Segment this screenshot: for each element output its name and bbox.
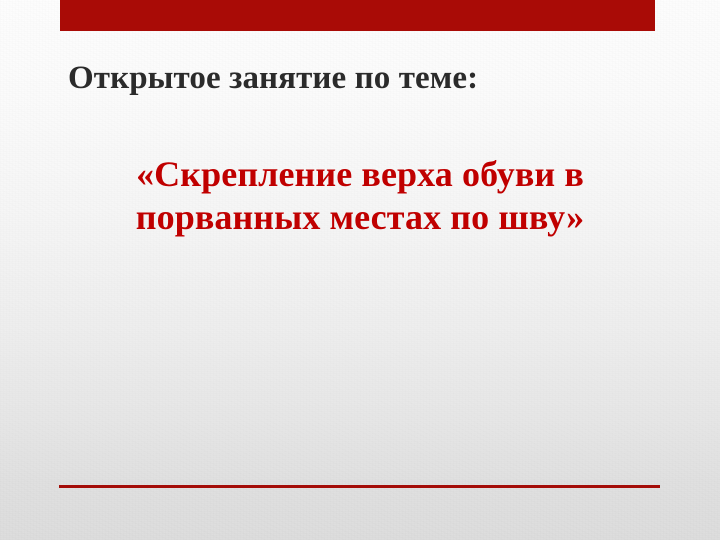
title-spacer [60,98,660,154]
top-accent-bar [60,0,655,31]
bottom-divider-rule [59,485,660,488]
slide-title-block: Открытое занятие по теме: «Скрепление ве… [60,60,660,238]
slide-topic-line-2: порванных местах по шву» [60,197,660,238]
slide-title-line-1: Открытое занятие по теме: [68,60,660,98]
slide-topic-line-1: «Скрепление верха обуви в [60,154,660,195]
presentation-slide: Открытое занятие по теме: «Скрепление ве… [0,0,720,540]
